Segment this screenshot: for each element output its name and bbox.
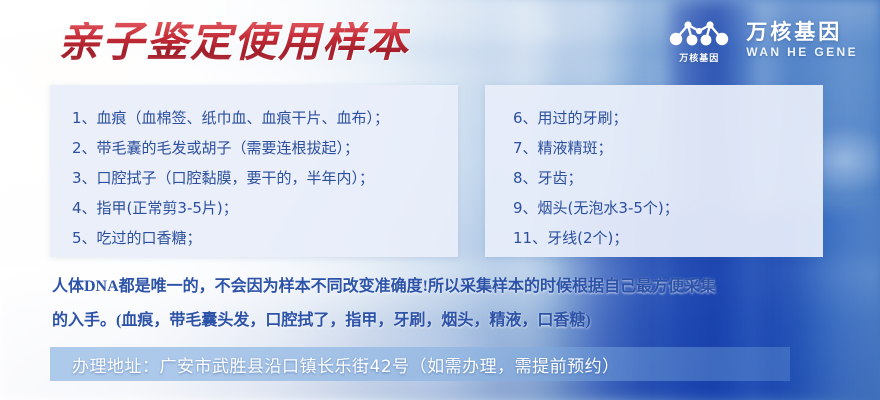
list-item: 11、牙线(2个)；: [513, 223, 823, 253]
address-text: 办理地址：广安市武胜县沿口镇长乐街42号（如需办理，需提前预约）: [50, 352, 620, 377]
description-paragraph: 人体DNA都是唯一的，不会因为样本不同改变准确度!所以采集样本的时候根据自己最方…: [52, 270, 852, 338]
list-item: 4、指甲(正常剪3-5片)；: [72, 193, 458, 223]
brand-name-en: WAN HE GENE: [746, 46, 858, 59]
sample-panels: 1、血痕（血棉签、纸巾血、血痕干片、血布）； 2、带毛囊的毛发或胡子（需要连根拔…: [50, 85, 823, 257]
list-item: 3、口腔拭子（口腔黏膜，要干的，半年内）；: [72, 163, 458, 193]
sample-panel-right-body: 6、用过的牙刷； 7、精液精斑； 8、牙齿； 9、烟头(无泡水3-5个)； 11…: [485, 85, 823, 253]
list-item: 2、带毛囊的毛发或胡子（需要连根拔起）；: [72, 133, 458, 163]
address-bar: 办理地址：广安市武胜县沿口镇长乐街42号（如需办理，需提前预约）: [50, 347, 790, 381]
brand-mark-label: 万核基因: [679, 51, 719, 64]
sample-panel-right: 6、用过的牙刷； 7、精液精斑； 8、牙齿； 9、烟头(无泡水3-5个)； 11…: [485, 85, 823, 257]
brand-mark: 万核基因: [668, 18, 730, 64]
brand-lockup: 万核基因 万核基因 WAN HE GENE: [668, 18, 858, 64]
description-line-1: 人体DNA都是唯一的，不会因为样本不同改变准确度!所以采集样本的时候根据自己最方…: [52, 270, 852, 304]
poster-canvas: 亲子鉴定使用样本: [0, 0, 880, 400]
list-item: 9、烟头(无泡水3-5个)；: [513, 193, 823, 223]
description-line-2: 的入手。(血痕，带毛囊头发，口腔拭了，指甲，牙刷，烟头，精液，口香糖): [52, 304, 852, 338]
list-item: 8、牙齿；: [513, 163, 823, 193]
list-item: 5、吃过的口香糖；: [72, 223, 458, 253]
list-item: 7、精液精斑；: [513, 133, 823, 163]
brand-name-cn: 万核基因: [746, 21, 858, 44]
sample-panel-left-body: 1、血痕（血棉签、纸巾血、血痕干片、血布）； 2、带毛囊的毛发或胡子（需要连根拔…: [50, 85, 458, 253]
list-item: 1、血痕（血棉签、纸巾血、血痕干片、血布）；: [72, 103, 458, 133]
page-title: 亲子鉴定使用样本: [58, 22, 410, 64]
list-item: 6、用过的牙刷；: [513, 103, 823, 133]
sample-panel-left: 1、血痕（血棉签、纸巾血、血痕干片、血布）； 2、带毛囊的毛发或胡子（需要连根拔…: [50, 85, 458, 257]
brand-wordmark: 万核基因 WAN HE GENE: [746, 18, 858, 59]
molecule-icon: [668, 18, 730, 48]
